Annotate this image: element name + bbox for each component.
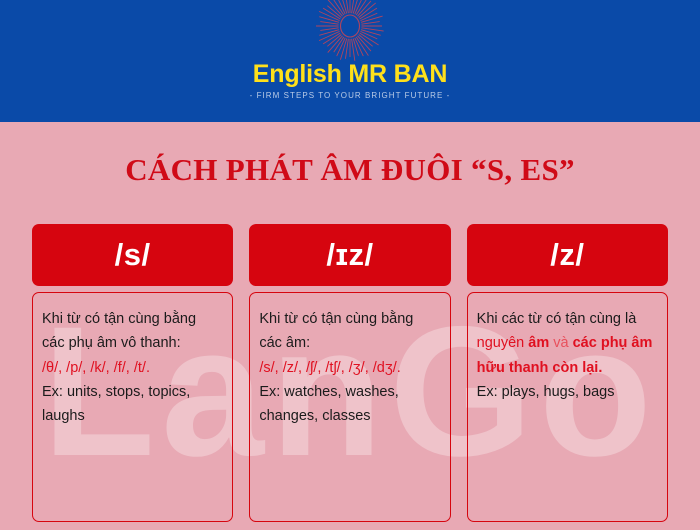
rule-column: /z/Khi các từ có tận cùng lànguyên âm và… [467, 224, 668, 522]
rule-text-segment: nguyên [477, 335, 529, 351]
rule-line: Khi từ có tận cùng bằng [42, 307, 223, 331]
rule-description-box: Khi từ có tận cùng bằngcác âm:/s/, /z/, … [249, 292, 450, 522]
phoneme-header-box[interactable]: /s/ [32, 224, 233, 286]
rule-column: /ɪz/Khi từ có tận cùng bằngcác âm:/s/, /… [249, 224, 450, 522]
rule-text-segment: Khi từ có tận cùng bằng [259, 311, 413, 327]
rule-text-segment: changes, classes [259, 408, 370, 424]
phoneme-header-box[interactable]: /z/ [467, 224, 668, 286]
rule-text-segment: laughs [42, 408, 85, 424]
rule-text-segment: và [549, 335, 572, 351]
pronunciation-rules-grid: /s/Khi từ có tận cùng bằngcác phụ âm vô … [32, 224, 668, 522]
rule-line: /θ/, /p/, /k/, /f/, /t/. [42, 356, 223, 380]
rule-text-segment: các âm: [259, 335, 310, 351]
rule-line: changes, classes [259, 404, 440, 428]
rule-text-segment: /s/, /z/, /ʃ/, /tʃ/, /ʒ/, /dʒ/. [259, 360, 401, 376]
rule-line: Khi từ có tận cùng bằng [259, 307, 440, 331]
rule-text-segment: các phụ âm vô thanh: [42, 335, 181, 351]
rule-description-box: Khi các từ có tận cùng lànguyên âm và cá… [467, 292, 668, 522]
rule-line: /s/, /z/, /ʃ/, /tʃ/, /ʒ/, /dʒ/. [259, 356, 440, 380]
brand-name: English MR BAN [0, 60, 700, 89]
rule-text-segment: Khi các từ có tận cùng là [477, 311, 637, 327]
rule-text-segment: /θ/, /p/, /k/, /f/, /t/. [42, 360, 150, 376]
rule-line: Ex: units, stops, topics, [42, 380, 223, 404]
logo-center-circle [341, 15, 360, 37]
phoneme-label: /ɪz/ [326, 237, 373, 273]
brand-tagline: - FIRM STEPS TO YOUR BRIGHT FUTURE - [0, 91, 700, 100]
rule-line: hữu thanh còn lại. [477, 356, 658, 380]
phoneme-label: /z/ [550, 237, 584, 273]
rule-text-segment: Ex: plays, hugs, bags [477, 384, 615, 400]
rule-line: Ex: plays, hugs, bags [477, 380, 658, 404]
rule-line: Ex: watches, washes, [259, 380, 440, 404]
rule-line: Khi các từ có tận cùng là [477, 307, 658, 331]
rule-text-segment: các phụ âm [573, 335, 653, 351]
rule-line: nguyên âm và các phụ âm [477, 331, 658, 355]
phoneme-label: /s/ [115, 237, 151, 273]
rule-text-segment: Ex: units, stops, topics, [42, 384, 190, 400]
rule-column: /s/Khi từ có tận cùng bằngcác phụ âm vô … [32, 224, 233, 522]
rule-description-box: Khi từ có tận cùng bằngcác phụ âm vô tha… [32, 292, 233, 522]
rule-text-segment: âm [528, 335, 549, 351]
rule-line: laughs [42, 404, 223, 428]
page-title: CÁCH PHÁT ÂM ĐUÔI “S, ES” [0, 152, 700, 188]
rule-text-segment: Ex: watches, washes, [259, 384, 398, 400]
brand-header: English MR BAN - FIRM STEPS TO YOUR BRIG… [0, 0, 700, 122]
starburst-sun-icon [295, 0, 405, 64]
phoneme-header-box[interactable]: /ɪz/ [249, 224, 450, 286]
rule-line: các âm: [259, 331, 440, 355]
rule-text-segment: hữu thanh còn lại. [477, 360, 603, 376]
rule-line: các phụ âm vô thanh: [42, 331, 223, 355]
rule-text-segment: Khi từ có tận cùng bằng [42, 311, 196, 327]
